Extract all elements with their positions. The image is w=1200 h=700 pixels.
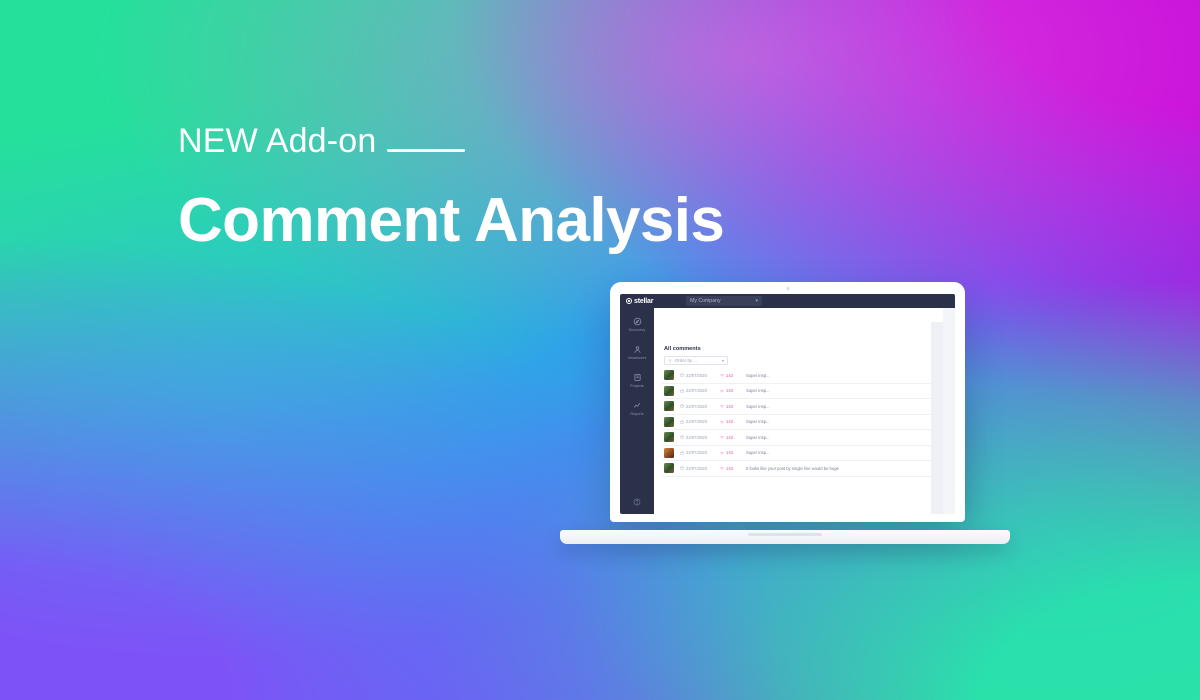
app-topbar: stellar My Company ▾ xyxy=(620,294,955,308)
calendar-icon xyxy=(680,373,684,377)
comment-date: 22/07/2020 xyxy=(680,373,714,378)
laptop-mockup: stellar My Company ▾ Discovery xyxy=(560,282,1010,544)
comment-text: Super insp... xyxy=(746,450,770,455)
comment-date-text: 22/07/2020 xyxy=(686,435,707,440)
comment-likes-count: 143 xyxy=(726,419,733,424)
comment-thumbnail xyxy=(664,432,674,442)
comment-date-text: 22/07/2020 xyxy=(686,450,707,455)
comment-likes: 143 xyxy=(720,404,740,409)
laptop-lid: stellar My Company ▾ Discovery xyxy=(610,282,965,522)
order-by-label: Order by ... xyxy=(675,358,697,363)
content-scrollbar[interactable] xyxy=(931,322,943,514)
comment-likes: 143 xyxy=(720,388,740,393)
comment-date: 22/07/2020 xyxy=(680,419,714,424)
app-logo-text: stellar xyxy=(634,298,653,305)
folder-icon xyxy=(632,372,642,382)
order-by-dropdown[interactable]: Order by ... ▾ xyxy=(664,356,728,365)
sidebar-item-label: Discovery xyxy=(629,328,646,332)
comment-date: 22/07/2020 xyxy=(680,435,714,440)
heart-icon xyxy=(720,404,724,408)
comments-section-title: All comments xyxy=(664,346,935,352)
comment-likes-count: 143 xyxy=(726,435,733,440)
table-row[interactable]: 22/07/2020 143 Super insp... xyxy=(662,399,935,415)
comment-date-text: 22/07/2020 xyxy=(686,388,707,393)
heart-icon xyxy=(720,389,724,393)
comment-likes-count: 143 xyxy=(726,450,733,455)
sidebar-item-projects[interactable]: Projects xyxy=(620,372,654,388)
chart-line-icon xyxy=(632,400,642,410)
comment-thumbnail xyxy=(664,386,674,396)
comment-likes-count: 143 xyxy=(726,388,733,393)
page-title: Comment Analysis xyxy=(178,185,724,256)
compass-icon xyxy=(632,316,642,326)
comment-likes-count: 143 xyxy=(726,404,733,409)
table-row[interactable]: 22/07/2020 143 It looks like your post b… xyxy=(662,461,935,477)
comment-likes: 143 xyxy=(720,450,740,455)
table-row[interactable]: 22/07/2020 143 Super insp... xyxy=(662,384,935,400)
company-selector[interactable]: My Company ▾ xyxy=(686,296,762,306)
comment-likes: 143 xyxy=(720,373,740,378)
heart-icon xyxy=(720,466,724,470)
comment-text: Super insp... xyxy=(746,388,770,393)
company-selector-value: My Company xyxy=(690,298,721,304)
comment-date: 22/07/2020 xyxy=(680,466,714,471)
app-content: All comments Order by ... ▾ 22/07/2020 xyxy=(654,308,943,514)
calendar-icon xyxy=(680,404,684,408)
laptop-screen: stellar My Company ▾ Discovery xyxy=(620,294,955,514)
comment-date-text: 22/07/2020 xyxy=(686,404,707,409)
calendar-icon xyxy=(680,435,684,439)
comment-thumbnail xyxy=(664,463,674,473)
comment-date-text: 22/07/2020 xyxy=(686,373,707,378)
comment-date-text: 22/07/2020 xyxy=(686,419,707,424)
comment-date: 22/07/2020 xyxy=(680,450,714,455)
comment-text: It looks like your post by single line w… xyxy=(746,466,839,471)
heart-icon xyxy=(720,451,724,455)
heart-icon xyxy=(720,435,724,439)
comment-date: 22/07/2020 xyxy=(680,404,714,409)
webcam-icon xyxy=(786,287,789,290)
app-logo: stellar xyxy=(620,298,686,305)
table-row[interactable]: 22/07/2020 143 Super insp... xyxy=(662,415,935,431)
hero-heading-block: NEW Add-on Comment Analysis xyxy=(178,122,724,256)
sidebar-item-label: Projects xyxy=(630,384,644,388)
calendar-icon xyxy=(680,466,684,470)
help-icon[interactable] xyxy=(620,498,654,506)
calendar-icon xyxy=(680,389,684,393)
sidebar-item-reports[interactable]: Reports xyxy=(620,400,654,416)
comment-text: Super insp... xyxy=(746,435,770,440)
comment-text: Super insp... xyxy=(746,404,770,409)
sidebar-item-label: Influencers xyxy=(628,356,647,360)
comment-likes: 143 xyxy=(720,419,740,424)
sidebar-item-discovery[interactable]: Discovery xyxy=(620,316,654,332)
table-row[interactable]: 22/07/2020 143 Super insp... xyxy=(662,368,935,384)
calendar-icon xyxy=(680,451,684,455)
chevron-down-icon: ▾ xyxy=(755,298,758,304)
hero-underline-rule xyxy=(387,149,465,152)
heart-icon xyxy=(720,420,724,424)
comment-text: Super insp... xyxy=(746,373,770,378)
laptop-base xyxy=(560,530,1010,544)
comment-likes: 143 xyxy=(720,466,740,471)
comment-thumbnail xyxy=(664,448,674,458)
caret-down-icon: ▾ xyxy=(722,358,724,363)
heart-icon xyxy=(720,373,724,377)
comment-thumbnail xyxy=(664,370,674,380)
table-row[interactable]: 22/07/2020 143 Super insp... xyxy=(662,446,935,462)
app-sidebar: Discovery Influencers xyxy=(620,308,654,514)
person-icon xyxy=(632,344,642,354)
stellar-logo-icon xyxy=(626,298,632,304)
hero-eyebrow: NEW Add-on xyxy=(178,122,724,161)
calendar-icon xyxy=(680,420,684,424)
comment-thumbnail xyxy=(664,401,674,411)
comment-likes-count: 143 xyxy=(726,373,733,378)
comment-date: 22/07/2020 xyxy=(680,388,714,393)
sidebar-item-label: Reports xyxy=(630,412,643,416)
comment-likes: 143 xyxy=(720,435,740,440)
comment-text: Super insp... xyxy=(746,419,770,424)
table-row[interactable]: 22/07/2020 143 Super insp... xyxy=(662,430,935,446)
sidebar-item-influencers[interactable]: Influencers xyxy=(620,344,654,360)
comment-likes-count: 143 xyxy=(726,466,733,471)
hero-eyebrow-text: NEW Add-on xyxy=(178,122,377,161)
comment-thumbnail xyxy=(664,417,674,427)
comment-date-text: 22/07/2020 xyxy=(686,466,707,471)
filter-icon xyxy=(668,359,672,363)
